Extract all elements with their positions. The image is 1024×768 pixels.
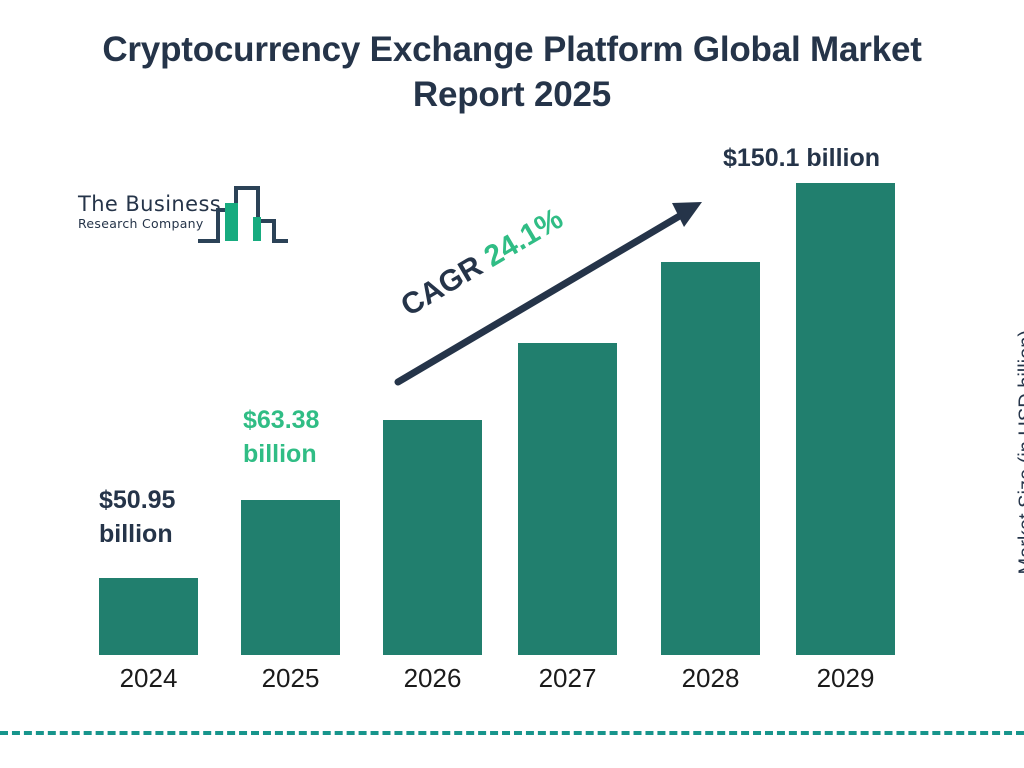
bar-2026 [383,420,482,655]
xtick-2027: 2027 [518,663,617,694]
footer-divider [0,731,1024,735]
xtick-2024: 2024 [99,663,198,694]
bar-2029 [796,183,895,655]
bar-2027 [518,343,617,655]
y-axis-title: Market Size (in USD billion) [1016,330,1024,575]
bar-2024 [99,578,198,655]
bar-2028 [661,262,760,655]
xtick-2025: 2025 [241,663,340,694]
bar-2025 [241,500,340,655]
value-label-2024: $50.95 billion [99,483,175,551]
xtick-2026: 2026 [383,663,482,694]
xtick-2029: 2029 [796,663,895,694]
value-label-2025: $63.38 billion [243,403,319,471]
plot-area [0,0,1024,768]
chart-page: Cryptocurrency Exchange Platform Global … [0,0,1024,768]
value-label-2029: $150.1 billion [723,141,880,175]
xtick-2028: 2028 [661,663,760,694]
